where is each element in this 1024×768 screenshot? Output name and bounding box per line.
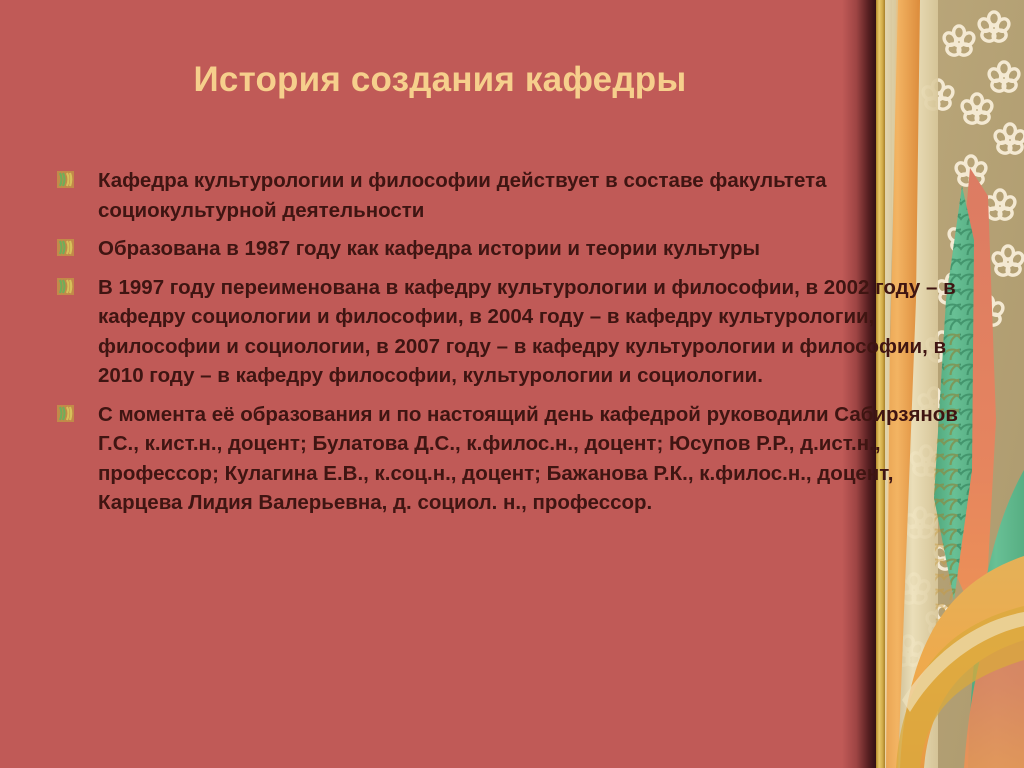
list-item-text: В 1997 году переименована в кафедру куль… xyxy=(98,276,956,388)
list-item-text: С момента её образования и по настоящий … xyxy=(98,403,958,515)
ornament-bullet-icon xyxy=(56,404,75,423)
slide-canvas: История создания кафедры Кафедра культур… xyxy=(0,0,1024,768)
list-item: Кафедра культурологии и философии действ… xyxy=(56,166,961,225)
ornament-bullet-icon xyxy=(56,170,75,189)
list-item: Образована в 1987 году как кафедра истор… xyxy=(56,234,961,264)
ornament-bullet-icon xyxy=(56,238,75,257)
ornament-bullet-icon xyxy=(56,277,75,296)
list-item-text: Образована в 1987 году как кафедра истор… xyxy=(98,237,760,260)
list-item: В 1997 году переименована в кафедру куль… xyxy=(56,273,961,391)
list-item: С момента её образования и по настоящий … xyxy=(56,400,961,518)
page-title: История создания кафедры xyxy=(0,60,880,100)
list-item-text: Кафедра культурологии и философии действ… xyxy=(98,169,827,222)
bullet-list: Кафедра культурологии и философии действ… xyxy=(56,166,961,527)
